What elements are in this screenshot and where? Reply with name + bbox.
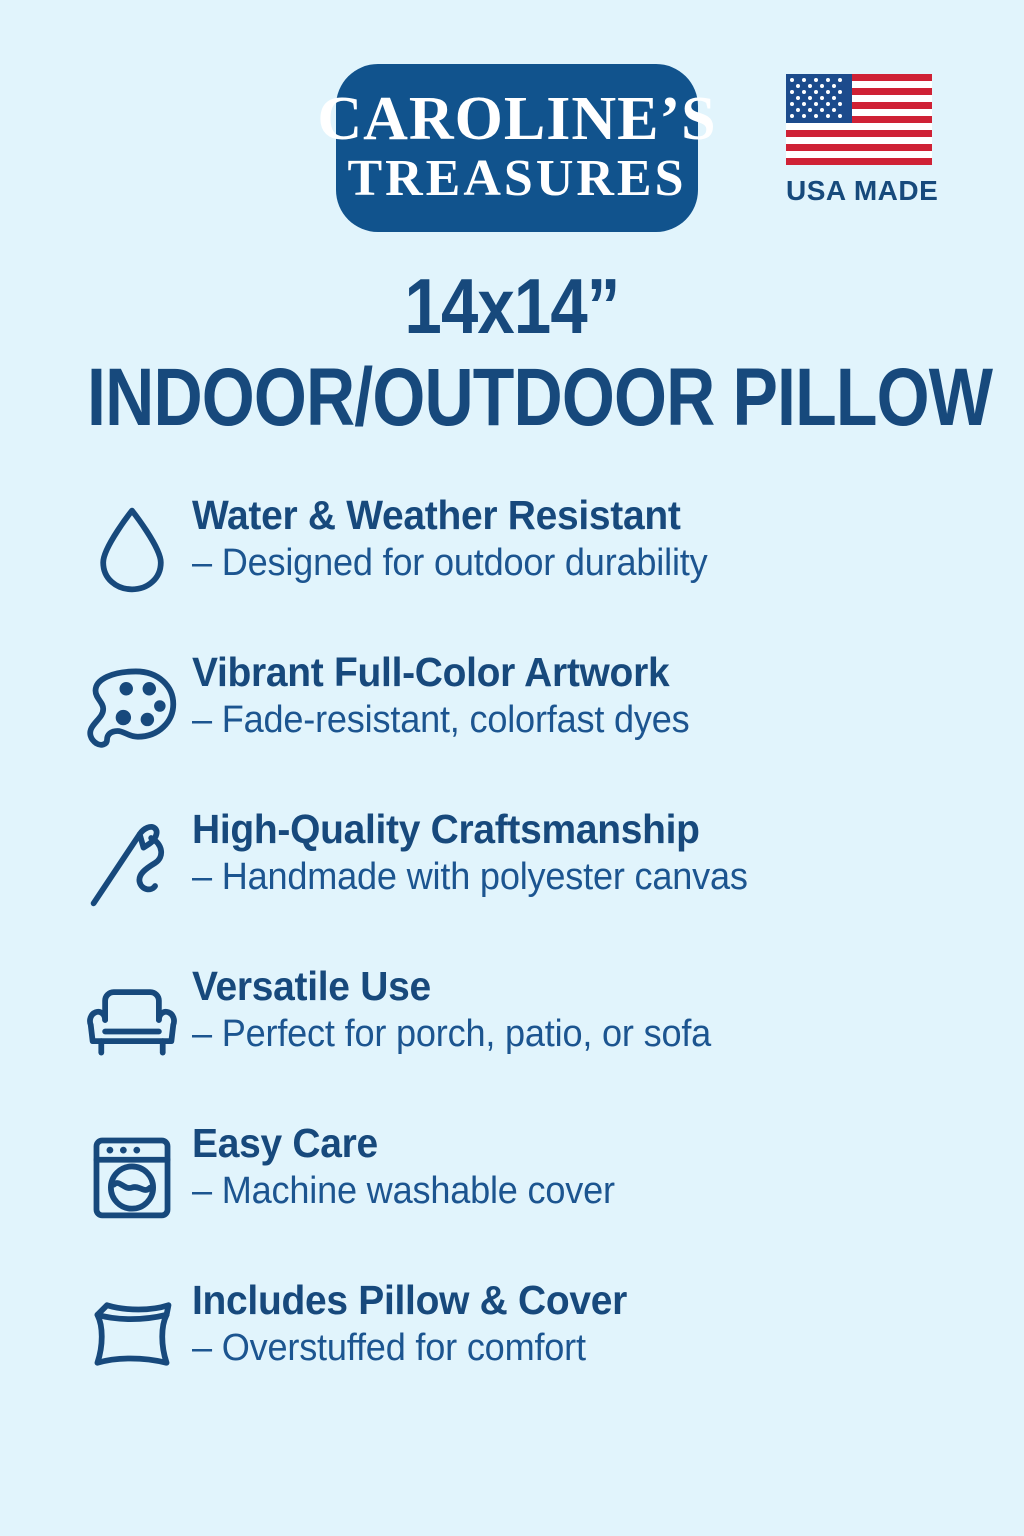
feature-title: Vibrant Full-Color Artwork bbox=[192, 650, 952, 696]
feature-text: Versatile Use – Perfect for porch, patio… bbox=[192, 964, 992, 1058]
feature-subtitle: – Fade-resistant, colorfast dyes bbox=[192, 698, 952, 744]
feature-item: High-Quality Craftsmanship – Handmade wi… bbox=[0, 801, 1024, 958]
washing-machine-icon bbox=[84, 1129, 180, 1225]
feature-subtitle: – Perfect for porch, patio, or sofa bbox=[192, 1012, 952, 1058]
feature-title: Includes Pillow & Cover bbox=[192, 1278, 952, 1324]
feature-title: Easy Care bbox=[192, 1121, 952, 1167]
flag-canton bbox=[786, 74, 852, 123]
page-title: INDOOR/OUTDOOR PILLOW bbox=[87, 357, 937, 439]
feature-item: Includes Pillow & Cover – Overstuffed fo… bbox=[0, 1272, 1024, 1429]
armchair-icon bbox=[84, 972, 180, 1068]
product-size-title: 14x14” bbox=[72, 267, 953, 345]
feature-item: Versatile Use – Perfect for porch, patio… bbox=[0, 958, 1024, 1115]
feature-item: Vibrant Full-Color Artwork – Fade-resist… bbox=[0, 644, 1024, 801]
feature-subtitle: – Designed for outdoor durability bbox=[192, 541, 952, 587]
water-drop-icon bbox=[84, 501, 180, 597]
product-infographic: CAROLINE’S TREASURES bbox=[0, 0, 1024, 1536]
needle-thread-icon bbox=[84, 815, 180, 911]
feature-text: Includes Pillow & Cover – Overstuffed fo… bbox=[192, 1278, 992, 1372]
feature-text: High-Quality Craftsmanship – Handmade wi… bbox=[192, 807, 992, 901]
feature-text: Vibrant Full-Color Artwork – Fade-resist… bbox=[192, 650, 992, 744]
feature-title: Water & Weather Resistant bbox=[192, 493, 952, 539]
feature-title: Versatile Use bbox=[192, 964, 952, 1010]
feature-subtitle: – Handmade with polyester canvas bbox=[192, 855, 952, 901]
brand-name-line1: CAROLINE’S bbox=[317, 89, 716, 150]
feature-list: Water & Weather Resistant – Designed for… bbox=[0, 487, 1024, 1429]
header: CAROLINE’S TREASURES bbox=[0, 64, 1024, 234]
feature-subtitle: – Overstuffed for comfort bbox=[192, 1326, 952, 1372]
brand-logo-badge: CAROLINE’S TREASURES bbox=[336, 64, 698, 232]
usa-made-badge: USA MADE bbox=[786, 74, 932, 207]
feature-item: Water & Weather Resistant – Designed for… bbox=[0, 487, 1024, 644]
feature-item: Easy Care – Machine washable cover bbox=[0, 1115, 1024, 1272]
usa-made-label: USA MADE bbox=[786, 175, 932, 207]
brand-name-line2: TREASURES bbox=[347, 151, 686, 207]
feature-title: High-Quality Craftsmanship bbox=[192, 807, 952, 853]
usa-flag-icon bbox=[786, 74, 932, 165]
pillow-icon bbox=[84, 1286, 180, 1382]
feature-subtitle: – Machine washable cover bbox=[192, 1169, 952, 1215]
paint-palette-icon bbox=[84, 658, 180, 754]
feature-text: Water & Weather Resistant – Designed for… bbox=[192, 493, 992, 587]
feature-text: Easy Care – Machine washable cover bbox=[192, 1121, 992, 1215]
